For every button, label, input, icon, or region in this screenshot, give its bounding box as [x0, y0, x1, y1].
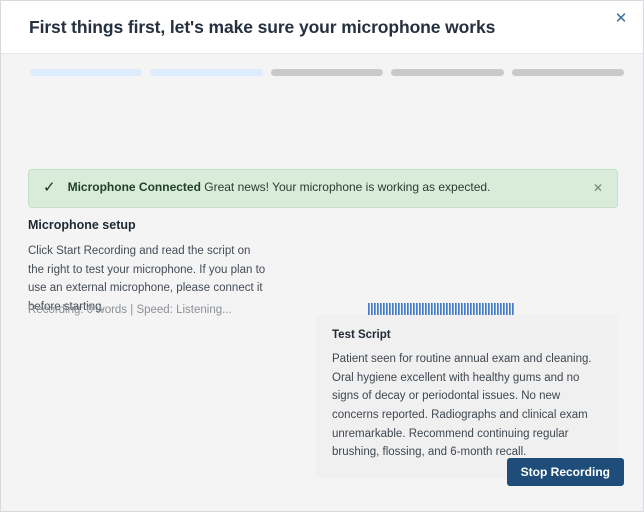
page-title: First things first, let's make sure your… [29, 17, 495, 38]
check-icon: ✓ [43, 180, 56, 195]
close-icon[interactable]: ✕ [610, 7, 632, 29]
progress-step-2 [150, 69, 262, 76]
status-banner-message: Great news! Your microphone is working a… [201, 180, 491, 194]
test-script-body: Patient seen for routine annual exam and… [332, 350, 602, 462]
progress-step-3 [271, 69, 383, 76]
progress-stepper [1, 54, 643, 90]
banner-close-icon[interactable]: ✕ [591, 182, 605, 194]
microphone-setup-heading: Microphone setup [28, 218, 136, 232]
modal-header: First things first, let's make sure your… [1, 1, 643, 54]
microphone-setup-modal: First things first, let's make sure your… [0, 0, 644, 512]
progress-step-5 [512, 69, 624, 76]
test-script-title: Test Script [332, 329, 602, 341]
recording-status-text: Recording: 0 words | Speed: Listening... [28, 304, 232, 316]
progress-step-1 [30, 69, 142, 76]
modal-body: ✓ Microphone Connected Great news! Your … [1, 90, 643, 511]
stop-recording-button[interactable]: Stop Recording [507, 458, 624, 486]
status-banner: ✓ Microphone Connected Great news! Your … [28, 169, 618, 208]
test-script-panel: Test Script Patient seen for routine ann… [316, 315, 618, 478]
status-badge: Microphone Connected [68, 180, 201, 194]
progress-step-4 [391, 69, 503, 76]
status-banner-text: Microphone Connected Great news! Your mi… [68, 180, 591, 196]
